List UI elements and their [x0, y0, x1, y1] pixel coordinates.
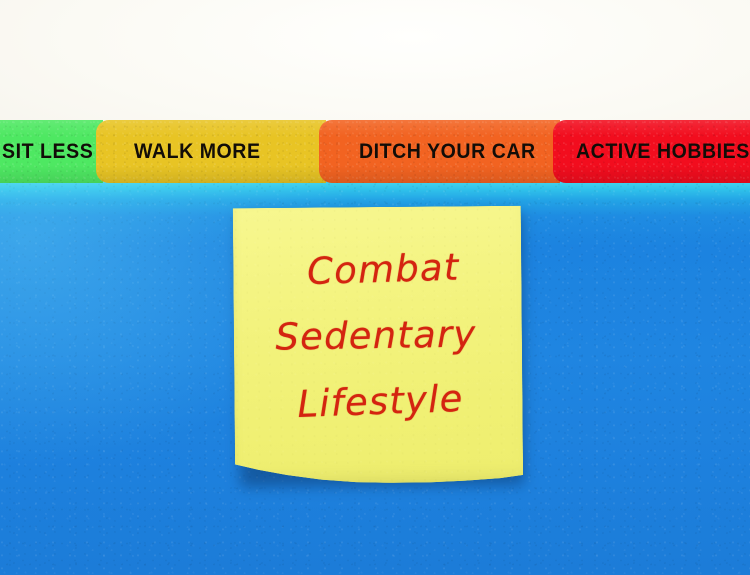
tab-strip: SIT LESS WALK MORE DITCH YOUR CAR ACTIVE…: [0, 120, 750, 183]
top-paper-band: [0, 0, 750, 122]
tab-ditch-your-car[interactable]: DITCH YOUR CAR: [319, 120, 560, 183]
sticky-note-line-2: Sedentary: [231, 301, 520, 372]
tab-label-sit-less: SIT LESS: [2, 140, 93, 164]
tab-walk-more[interactable]: WALK MORE: [96, 120, 326, 183]
tab-label-ditch-your-car: DITCH YOUR CAR: [359, 140, 536, 164]
sticky-note-line-1: Combat: [238, 233, 528, 308]
sticky-note[interactable]: Combat Sedentary Lifestyle: [233, 206, 527, 490]
tab-label-walk-more: WALK MORE: [134, 140, 261, 164]
sticky-note-line-3: Lifestyle: [235, 364, 525, 441]
poster-scene: SIT LESS WALK MORE DITCH YOUR CAR ACTIVE…: [0, 0, 750, 575]
tab-sit-less[interactable]: SIT LESS: [0, 120, 103, 183]
sticky-note-text: Combat Sedentary Lifestyle: [233, 236, 523, 437]
tab-label-active-hobbies: ACTIVE HOBBIES: [576, 140, 750, 164]
tab-active-hobbies[interactable]: ACTIVE HOBBIES: [553, 120, 750, 183]
